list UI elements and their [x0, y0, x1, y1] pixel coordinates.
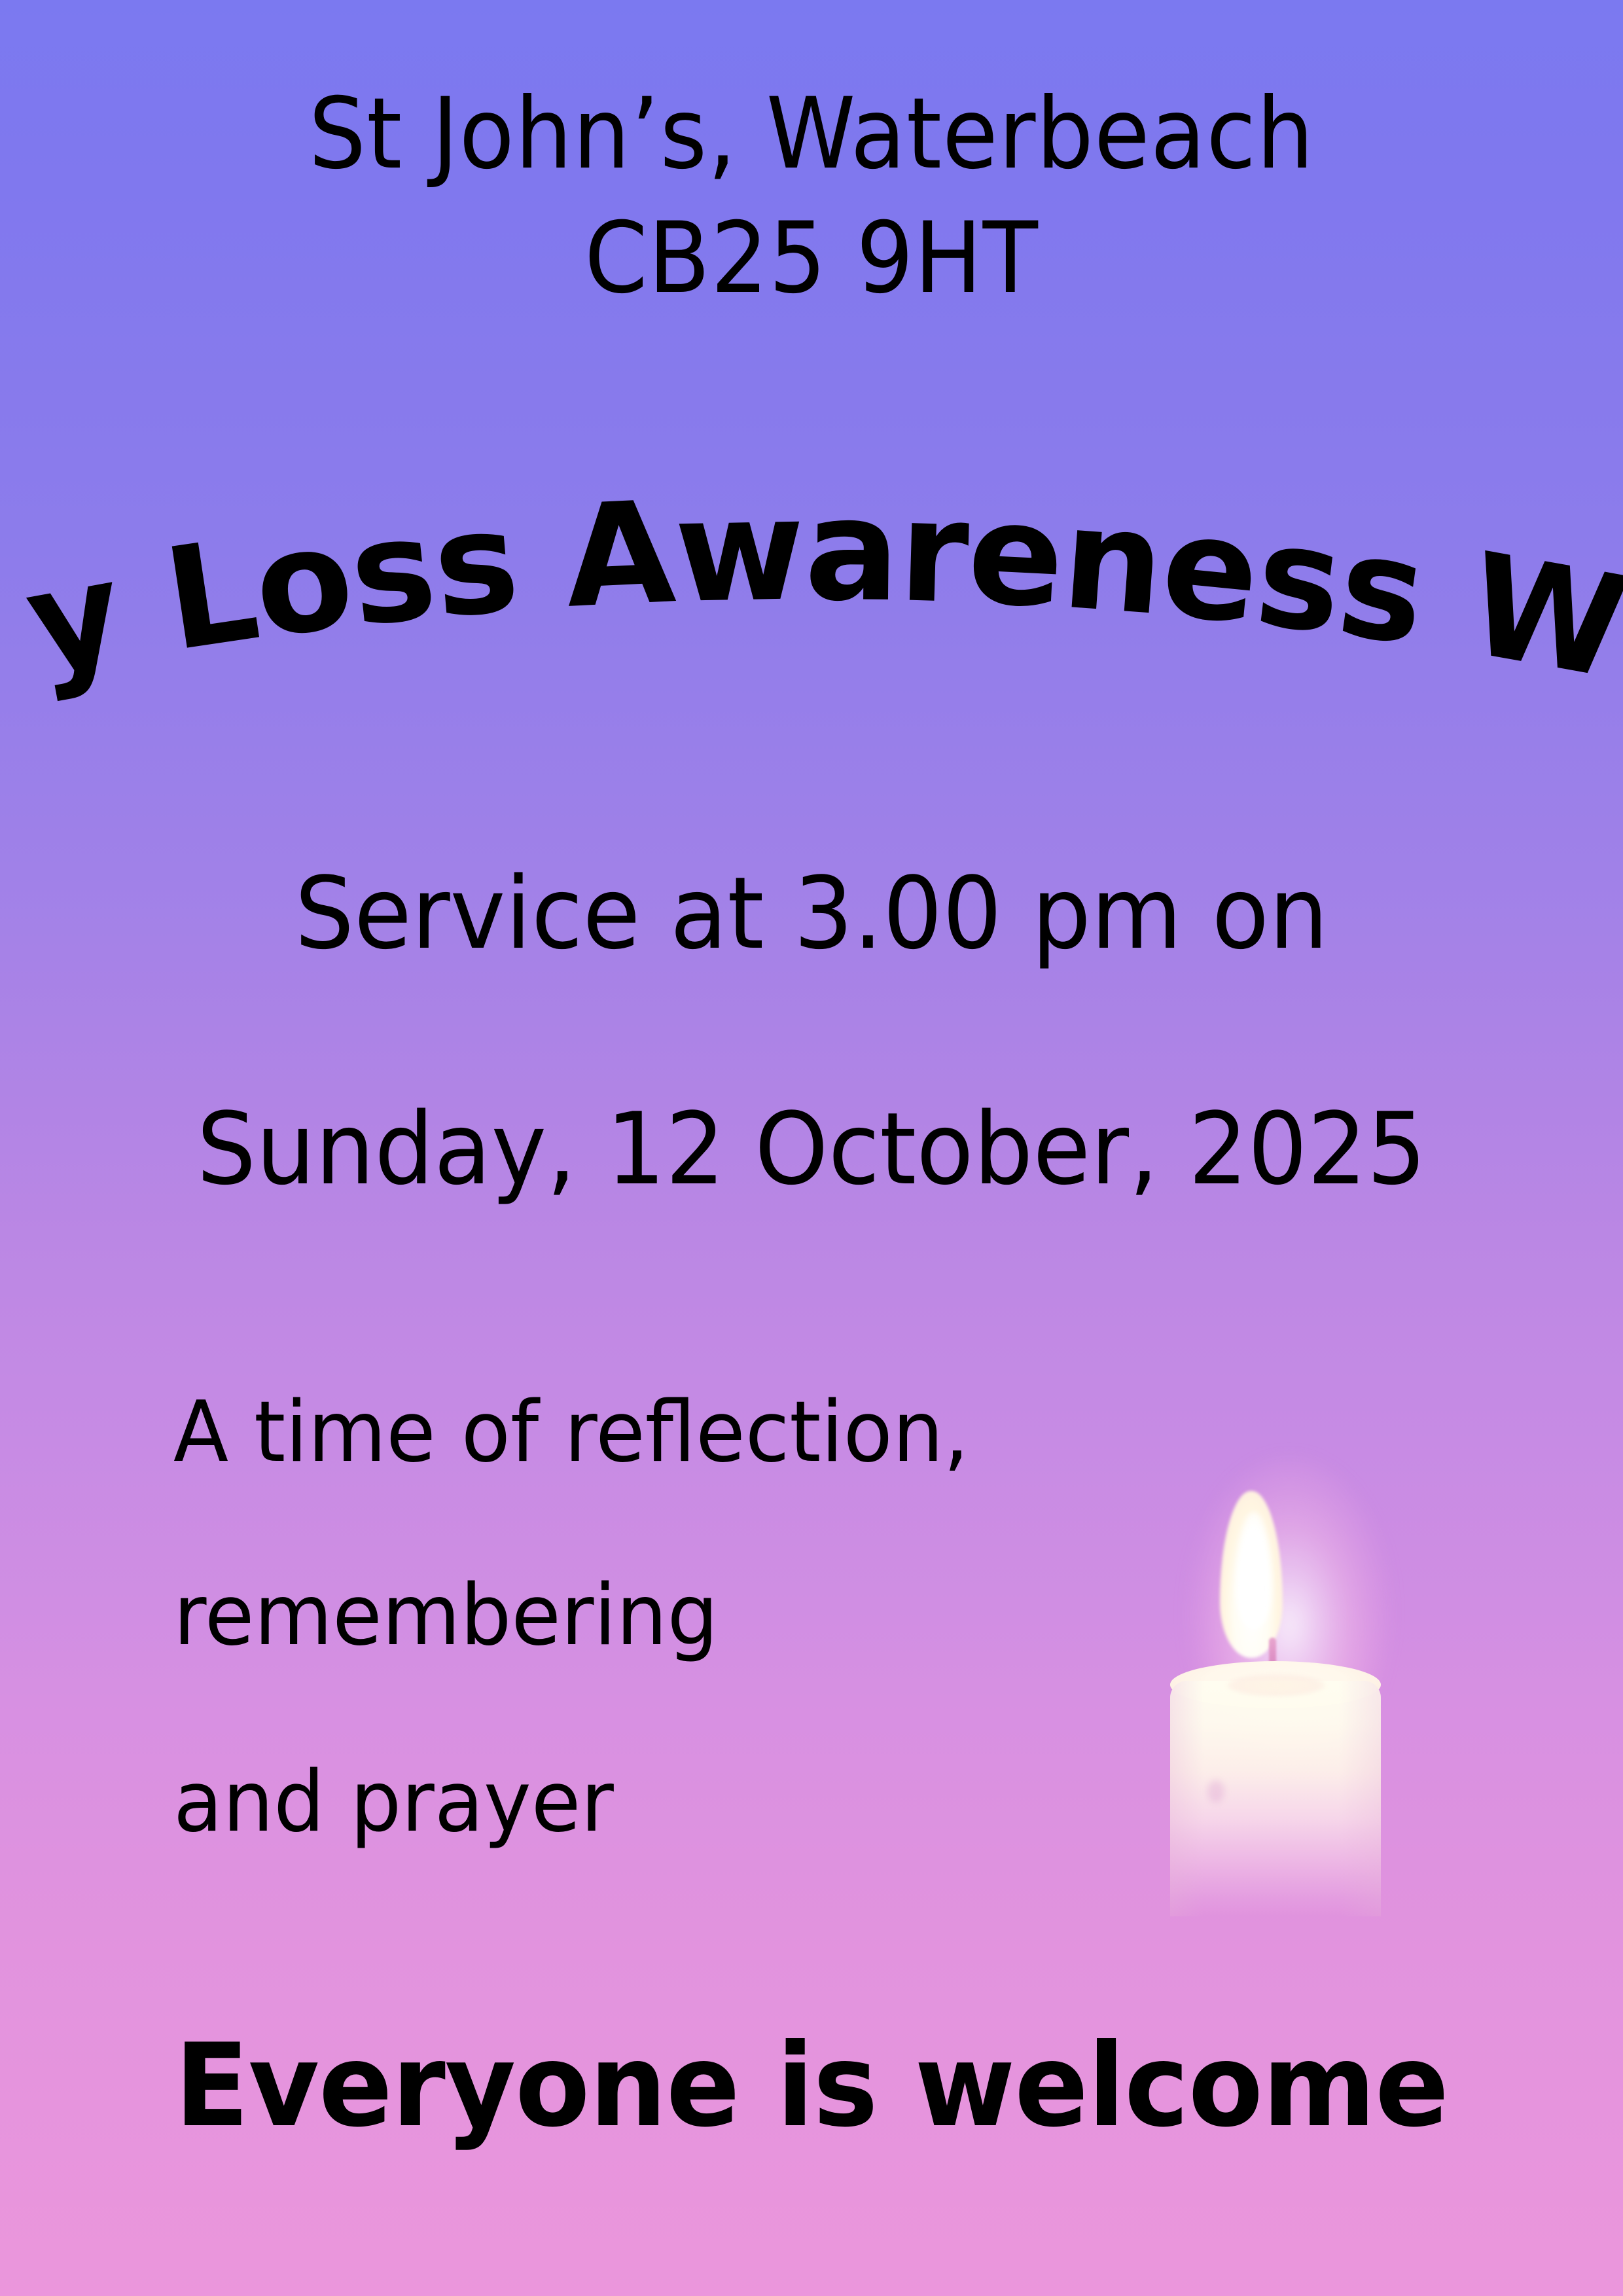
reflection-line-1: A time of reflection,	[173, 1391, 969, 1475]
reflection-line-3: and prayer	[173, 1761, 614, 1844]
venue-postcode: CB25 9HT	[65, 209, 1558, 308]
candle-wax-pool-icon	[1228, 1674, 1325, 1696]
candle-wax-blemish	[1207, 1780, 1224, 1803]
headline-arch-svg: Baby Loss Awareness Week	[0, 452, 1623, 726]
reflection-line-2: remembering	[173, 1574, 719, 1658]
headline-container: Baby Loss Awareness Week	[0, 452, 1623, 726]
service-time: Service at 3.00 pm on	[48, 864, 1574, 963]
poster-canvas: St John’s, Waterbeach CB25 9HT Baby Loss…	[0, 0, 1623, 2296]
headline-title: Baby Loss Awareness Week	[0, 321, 1623, 710]
candle-body-shading	[1170, 1681, 1381, 1916]
candle-icon	[1106, 1473, 1459, 1931]
welcome-message: Everyone is welcome	[41, 2029, 1582, 2144]
venue-name: St John’s, Waterbeach	[65, 85, 1558, 183]
service-date: Sunday, 12 October, 2025	[48, 1100, 1574, 1199]
